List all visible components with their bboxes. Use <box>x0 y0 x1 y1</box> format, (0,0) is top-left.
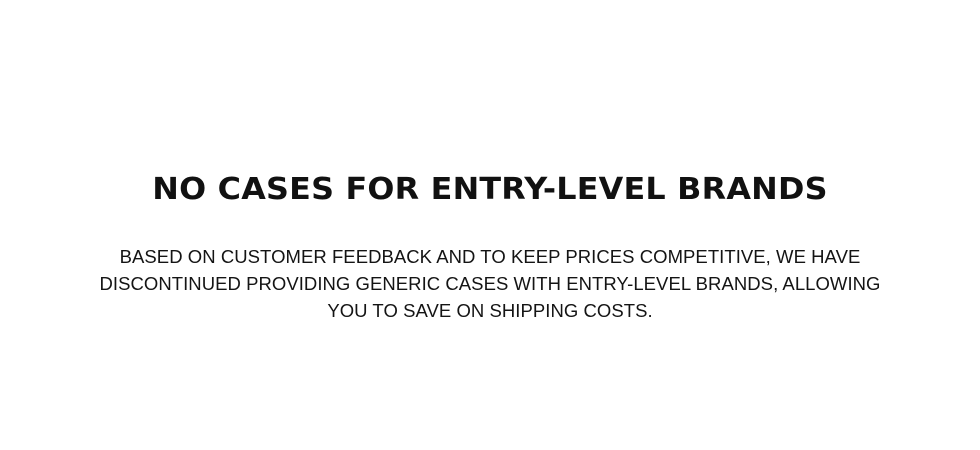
notice-body: BASED ON CUSTOMER FEEDBACK AND TO KEEP P… <box>90 243 890 324</box>
notice-section: NO CASES FOR ENTRY-LEVEL BRANDS BASED ON… <box>0 0 980 450</box>
notice-body-line: DISCONTINUED PROVIDING GENERIC CASES WIT… <box>90 270 890 297</box>
notice-heading: NO CASES FOR ENTRY-LEVEL BRANDS <box>0 170 980 210</box>
notice-body-line: YOU TO SAVE ON SHIPPING COSTS. <box>90 297 890 324</box>
notice-body-line: BASED ON CUSTOMER FEEDBACK AND TO KEEP P… <box>90 243 890 270</box>
